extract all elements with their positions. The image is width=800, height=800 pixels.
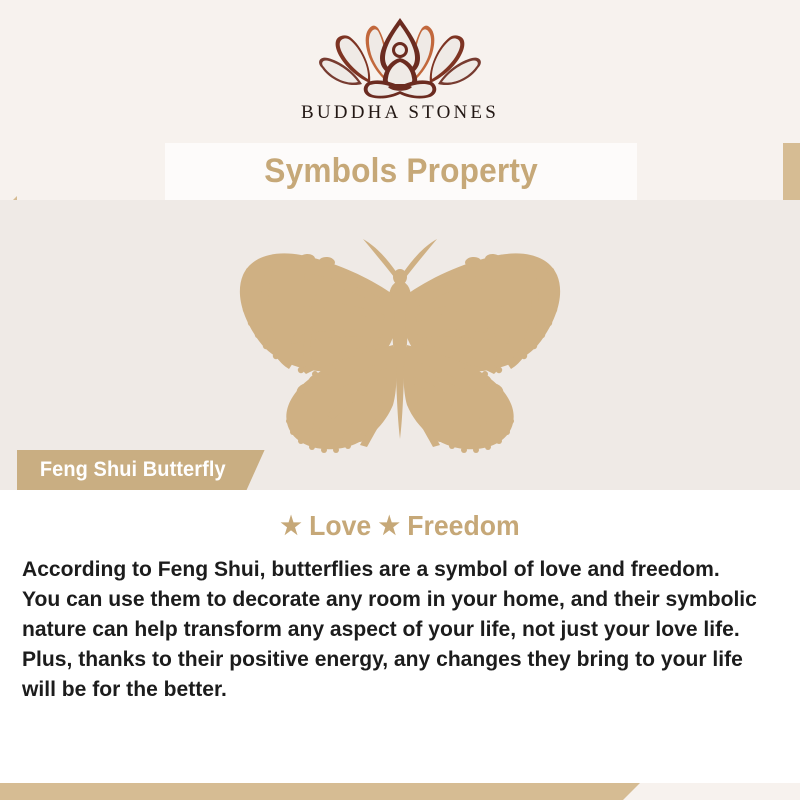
star-icon-middle: ★ <box>379 512 400 540</box>
content-body: ★ Love ★ Freedom According to Feng Shui,… <box>0 490 800 783</box>
description-paragraph: According to Feng Shui, butterflies are … <box>22 554 763 704</box>
status-badge: Feng Shui Butterfly <box>17 450 265 490</box>
illustration-stage <box>0 200 800 490</box>
page-title: Symbols Property <box>264 152 538 191</box>
brand-wordmark: BUDDHA STONES <box>301 102 499 124</box>
content-subheading: ★ Love ★ Freedom <box>20 510 780 542</box>
subheading-word-love: Love <box>309 510 371 541</box>
title-banner: Symbols Property <box>165 143 637 200</box>
subheading-word-freedom: Freedom <box>407 510 519 541</box>
frame-strip-bottom <box>0 783 640 800</box>
brand-header: BUDDHA STONES <box>0 0 800 143</box>
butterfly-icon <box>205 227 595 467</box>
star-icon-left: ★ <box>280 512 301 540</box>
lotus-meditation-icon <box>310 16 490 100</box>
poster-root: BUDDHA STONES Symbols Property <box>0 0 800 800</box>
tag-label: Feng Shui Butterfly <box>40 458 226 482</box>
